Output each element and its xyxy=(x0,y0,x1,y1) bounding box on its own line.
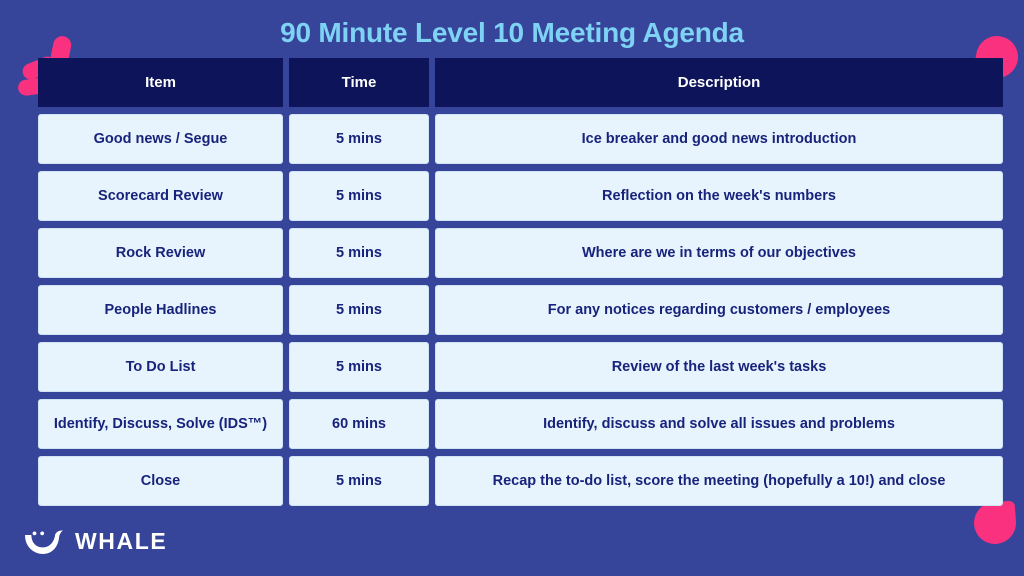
cell-time: 5 mins xyxy=(289,456,429,506)
table-row: Good news / Segue 5 mins Ice breaker and… xyxy=(38,114,1003,164)
cell-item: Rock Review xyxy=(38,228,283,278)
column-header-time: Time xyxy=(289,58,429,107)
cell-time: 5 mins xyxy=(289,228,429,278)
cell-time: 5 mins xyxy=(289,342,429,392)
cell-time: 5 mins xyxy=(289,285,429,335)
cell-item: People Hadlines xyxy=(38,285,283,335)
table-header-row: Item Time Description xyxy=(38,58,1003,107)
cell-item: Scorecard Review xyxy=(38,171,283,221)
cell-description: Reflection on the week's numbers xyxy=(435,171,1003,221)
table-row: To Do List 5 mins Review of the last wee… xyxy=(38,342,1003,392)
cell-item: To Do List xyxy=(38,342,283,392)
cell-time: 60 mins xyxy=(289,399,429,449)
cell-description: Recap the to-do list, score the meeting … xyxy=(435,456,1003,506)
smiling-whale-icon xyxy=(22,526,64,556)
column-header-item: Item xyxy=(38,58,283,107)
brand-logo: WHALE xyxy=(22,526,167,556)
cell-item: Good news / Segue xyxy=(38,114,283,164)
cell-description: Identify, discuss and solve all issues a… xyxy=(435,399,1003,449)
brand-name: WHALE xyxy=(75,528,167,555)
cell-item: Identify, Discuss, Solve (IDS™) xyxy=(38,399,283,449)
column-header-description: Description xyxy=(435,58,1003,107)
table-row: Identify, Discuss, Solve (IDS™) 60 mins … xyxy=(38,399,1003,449)
cell-item: Close xyxy=(38,456,283,506)
cell-description: Where are we in terms of our objectives xyxy=(435,228,1003,278)
cell-description: Ice breaker and good news introduction xyxy=(435,114,1003,164)
table-row: Scorecard Review 5 mins Reflection on th… xyxy=(38,171,1003,221)
table-row: People Hadlines 5 mins For any notices r… xyxy=(38,285,1003,335)
cell-time: 5 mins xyxy=(289,114,429,164)
agenda-table: Item Time Description Good news / Segue … xyxy=(38,58,1003,513)
cell-description: For any notices regarding customers / em… xyxy=(435,285,1003,335)
table-row: Rock Review 5 mins Where are we in terms… xyxy=(38,228,1003,278)
cell-time: 5 mins xyxy=(289,171,429,221)
table-row: Close 5 mins Recap the to-do list, score… xyxy=(38,456,1003,506)
page-title: 90 Minute Level 10 Meeting Agenda xyxy=(0,17,1024,49)
cell-description: Review of the last week's tasks xyxy=(435,342,1003,392)
